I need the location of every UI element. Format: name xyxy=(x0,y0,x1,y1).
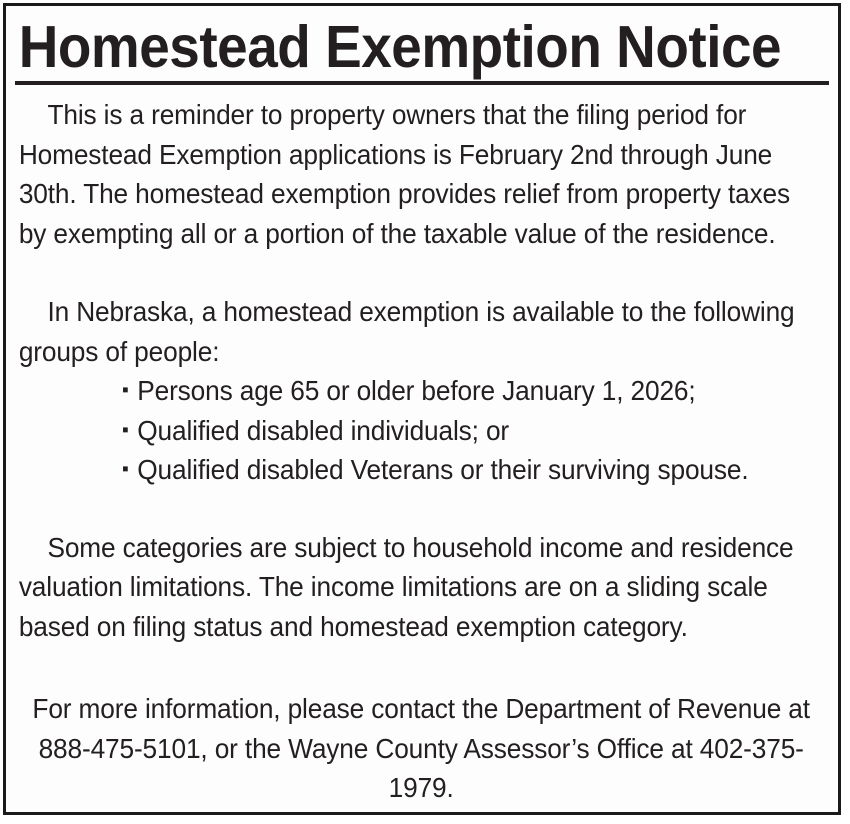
contact-block: For more information, please contact the… xyxy=(15,689,827,808)
notice-border-box: Homestead Exemption Notice This is a rem… xyxy=(3,3,841,815)
list-item-label: Persons age 65 or older before January 1… xyxy=(137,375,695,406)
bullet-square-icon: ▪ xyxy=(122,371,129,411)
notice-body: This is a reminder to property owners th… xyxy=(15,85,827,808)
paragraph-spacer xyxy=(15,490,827,528)
list-item-label: Qualified disabled Veterans or their sur… xyxy=(137,454,748,485)
paragraph-eligibility-lead: In Nebraska, a homestead exemption is av… xyxy=(15,292,827,371)
contact-line-1: For more information, please contact the… xyxy=(25,689,818,729)
notice-content: Homestead Exemption Notice This is a rem… xyxy=(6,6,838,812)
paragraph-intro: This is a reminder to property owners th… xyxy=(15,95,827,253)
contact-line-2: 888-475-5101, or the Wayne County Assess… xyxy=(25,729,818,808)
paragraph-spacer xyxy=(15,646,827,689)
list-item: ▪Persons age 65 or older before January … xyxy=(122,371,827,411)
bullet-square-icon: ▪ xyxy=(122,411,129,451)
list-item: ▪Qualified disabled Veterans or their su… xyxy=(122,450,827,490)
paragraph-spacer xyxy=(15,253,827,292)
page-title: Homestead Exemption Notice xyxy=(15,12,772,80)
eligibility-list: ▪Persons age 65 or older before January … xyxy=(15,371,827,490)
list-item-label: Qualified disabled individuals; or xyxy=(137,415,509,446)
paragraph-limitations: Some categories are subject to household… xyxy=(15,528,827,647)
list-item: ▪Qualified disabled individuals; or xyxy=(122,411,827,451)
bullet-square-icon: ▪ xyxy=(122,450,129,490)
